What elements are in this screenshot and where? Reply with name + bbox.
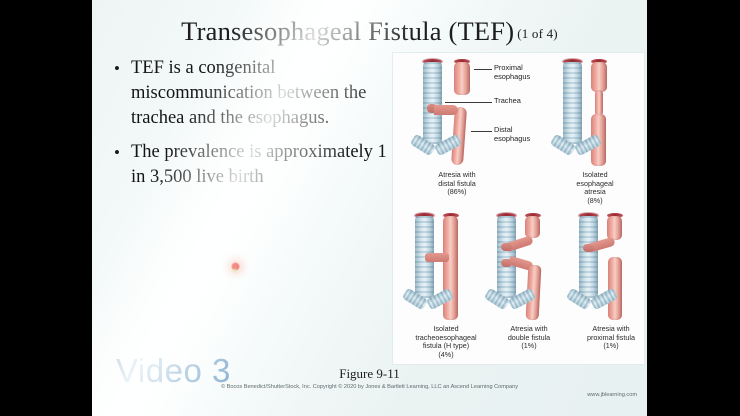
diagram-isolated-tracheoesophageal-fistula (407, 213, 487, 321)
esophagus-narrow-segment (595, 90, 603, 116)
trachea-shape (423, 62, 442, 144)
copyright-notice: © Bocos Benedict/ShutterStock, Inc. Copy… (92, 384, 647, 399)
diagram-caption: Isolated esophageal atresia (8%) (543, 171, 647, 205)
bullet-marker-icon: • (114, 56, 131, 131)
anatomy-figure-panel: Atresia with distal fistula (86%) Proxim… (392, 52, 645, 365)
proximal-esophagus-shape (454, 62, 470, 95)
diagram-atresia-with-proximal-fistula (571, 213, 647, 321)
bullet-list: • TEF is a congenital miscommunication b… (114, 56, 399, 199)
bullet-marker-icon: • (114, 140, 131, 190)
page-title: Transesophageal Fistula (TEF)(1 of 4) (92, 16, 647, 47)
list-item: • TEF is a congenital miscommunication b… (114, 56, 399, 131)
diagram-caption: Atresia with proximal fistula (1%) (559, 325, 647, 351)
esophagus-shape (443, 216, 458, 320)
proximal-esophagus-shape (525, 216, 540, 238)
bullet-text: The prevalence is approximately 1 in 3,5… (131, 140, 399, 190)
proximal-esophagus-shape (591, 62, 607, 92)
label-distal-esophagus: Distal esophagus (494, 126, 544, 144)
proximal-esophagus-shape (607, 216, 622, 240)
list-item: • The prevalence is approximately 1 in 3… (114, 140, 399, 190)
diagram-atresia-with-distal-fistula (409, 59, 505, 167)
presentation-slide: Transesophageal Fistula (TEF)(1 of 4) • … (92, 0, 647, 416)
bullet-text: TEF is a congenital miscommunication bet… (131, 56, 399, 131)
laser-pointer-cursor (231, 262, 240, 271)
leader-line (445, 102, 492, 103)
video-player-frame: Transesophageal Fistula (TEF)(1 of 4) • … (0, 0, 740, 416)
label-trachea: Trachea (494, 97, 544, 106)
leader-line (471, 131, 492, 132)
page-title-text: Transesophageal Fistula (TEF) (181, 16, 514, 46)
trachea-shape (579, 216, 598, 298)
slide-counter: (1 of 4) (517, 26, 558, 41)
fistula-h-type (425, 253, 449, 262)
copyright-line-2: www.jblearning.com (92, 392, 647, 400)
trachea-shape (563, 62, 582, 144)
copyright-line-1: © Bocos Benedict/ShutterStock, Inc. Copy… (221, 384, 518, 390)
fistula-connection (434, 105, 458, 115)
atresia-band (501, 243, 512, 251)
label-proximal-esophagus: Proximal esophagus (494, 64, 548, 82)
leader-line (474, 69, 492, 70)
atresia-band (583, 244, 594, 252)
diagram-caption: Atresia with distal fistula (86%) (401, 171, 513, 197)
diagram-isolated-esophageal-atresia (555, 59, 635, 167)
diagram-atresia-with-double-fistula (489, 213, 569, 321)
